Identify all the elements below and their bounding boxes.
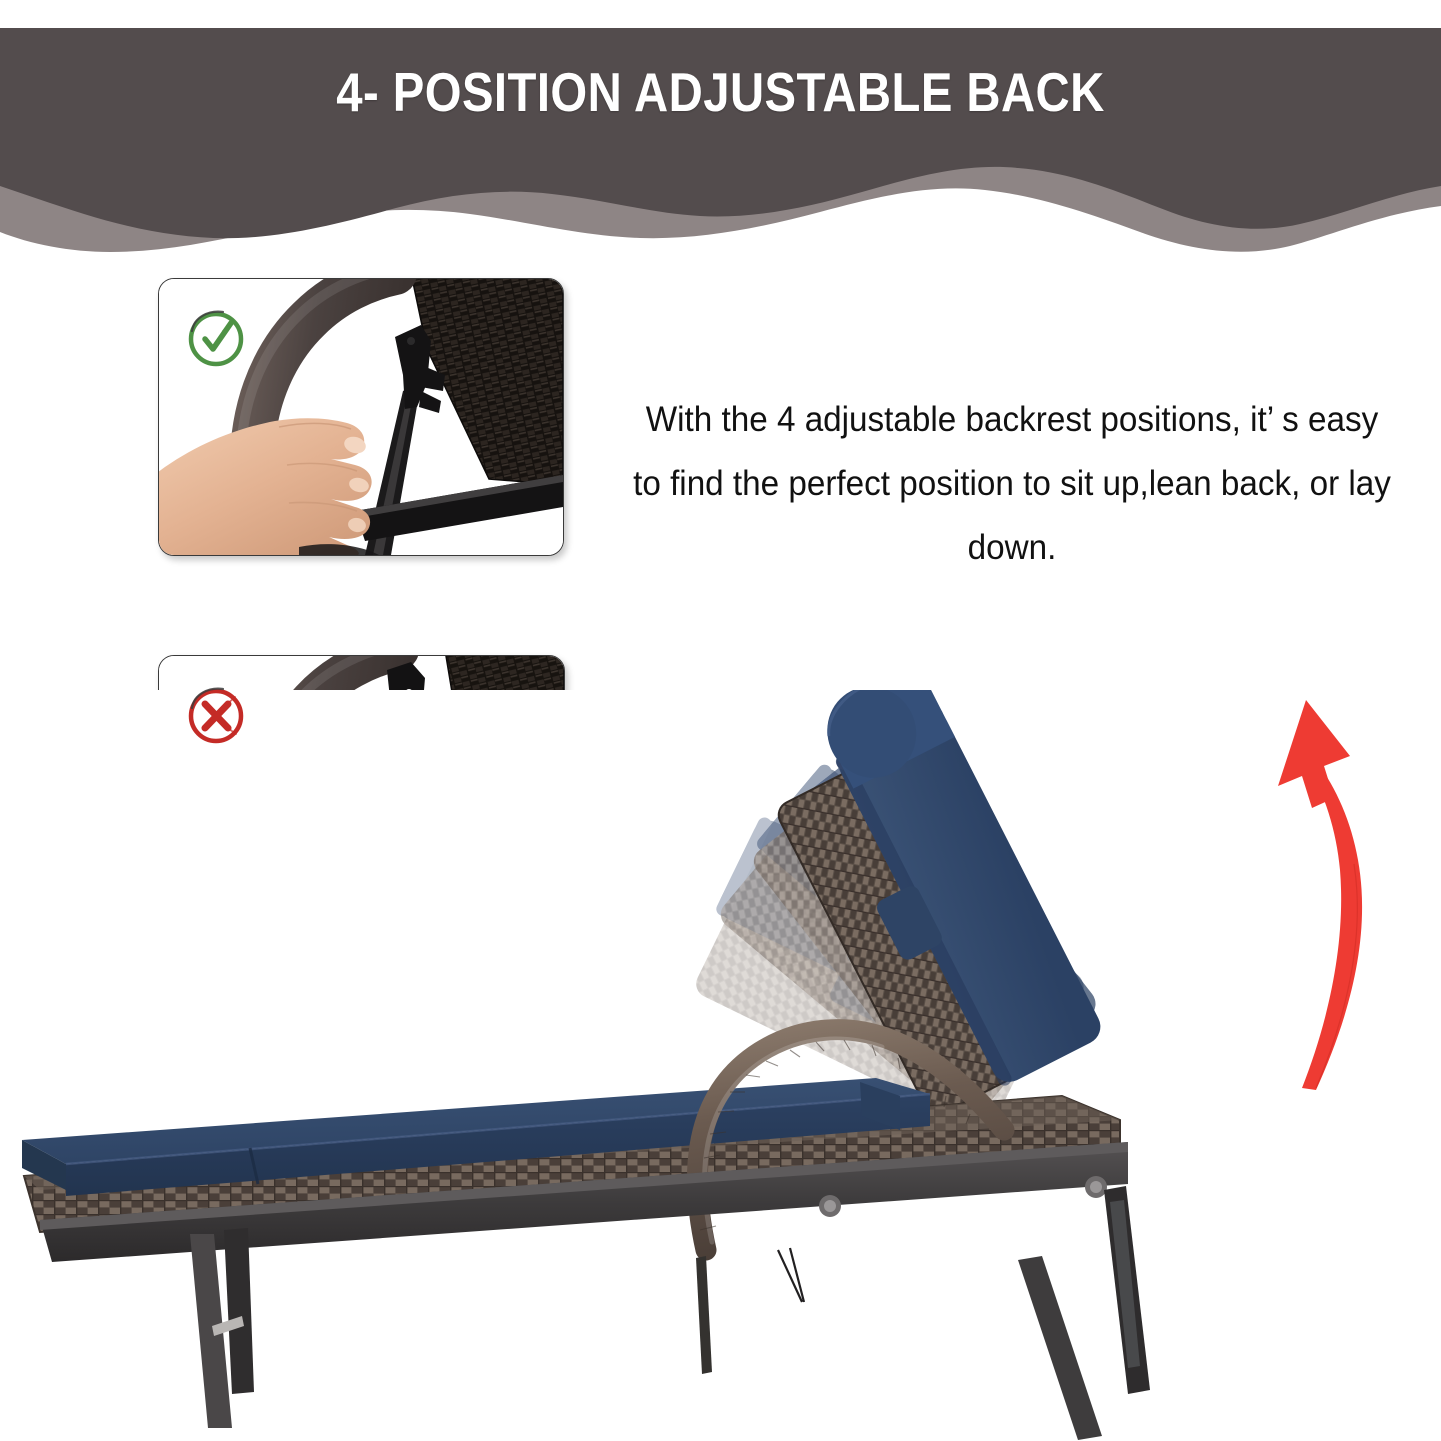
page-title: 4- POSITION ADJUSTABLE BACK	[101, 60, 1340, 124]
feature-description: With the 4 adjustable backrest positions…	[632, 388, 1392, 580]
panel-correct-grip	[158, 278, 564, 556]
product-feature-infographic: 4- POSITION ADJUSTABLE BACK	[0, 0, 1441, 1441]
red-cross-icon	[179, 678, 253, 752]
header-banner: 4- POSITION ADJUSTABLE BACK	[0, 0, 1441, 262]
product-image-chaise-lounge	[0, 690, 1441, 1441]
green-check-icon	[179, 301, 253, 375]
banner-wave-shapes	[0, 0, 1441, 262]
